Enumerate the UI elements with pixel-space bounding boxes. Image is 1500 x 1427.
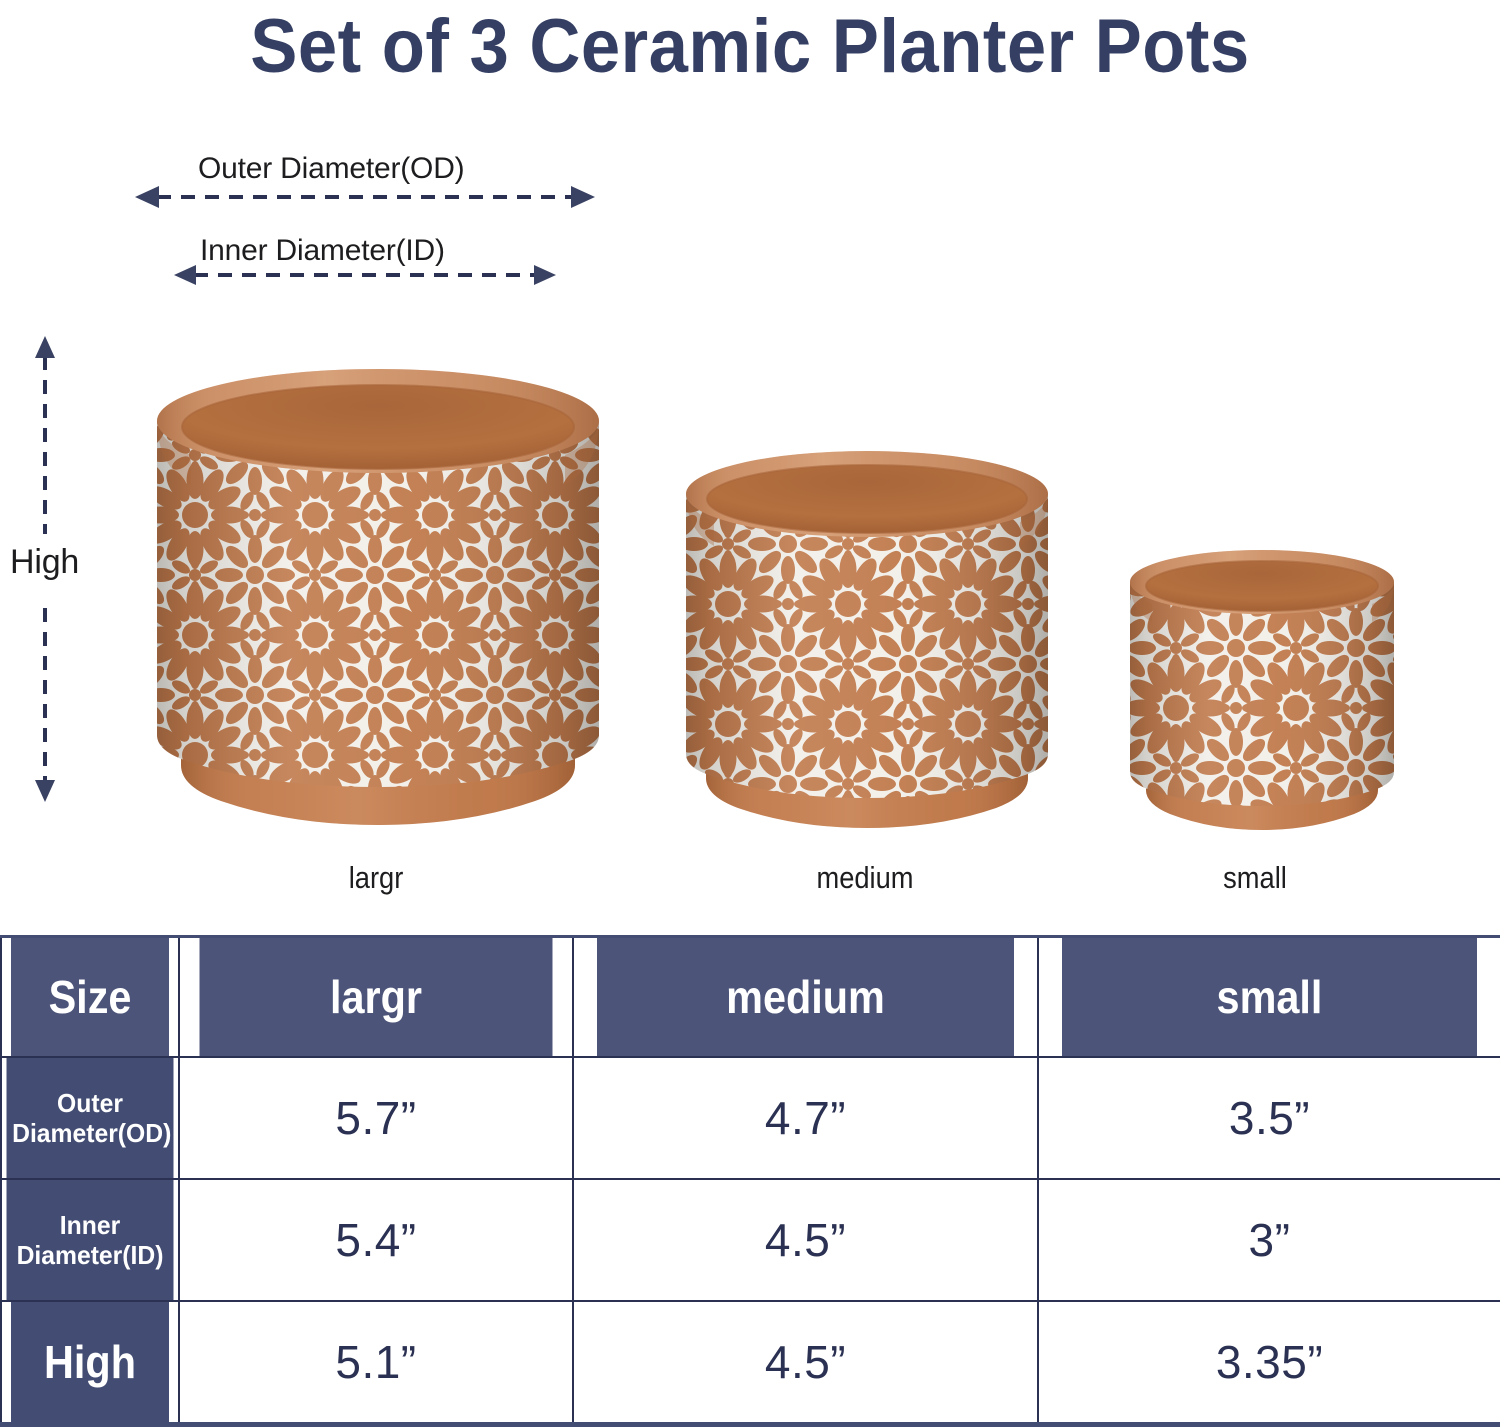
inner-diameter-arrow-icon [174,264,556,286]
cell-high-large: 5.1” [179,1301,573,1425]
cell-od-large: 5.7” [179,1057,573,1179]
cell-id-large: 5.4” [179,1179,573,1301]
cell-id-medium: 4.5” [573,1179,1038,1301]
pot-medium [668,424,1066,836]
row-label-outer-diameter: Outer Diameter(OD) [5,1057,174,1179]
pot-large-graphic [135,335,621,835]
table-row-high: High 5.1” 4.5” 3.35” [1,1301,1500,1425]
table-header-size: Size [10,937,170,1058]
cell-high-medium: 4.5” [573,1301,1038,1425]
inner-diameter-label: Inner Diameter(ID) [200,234,445,268]
outer-diameter-arrow-icon [135,186,595,208]
cell-od-small: 3.5” [1038,1057,1500,1179]
pot-caption-medium: medium [698,860,1032,896]
cell-high-small: 3.35” [1038,1301,1500,1425]
size-spec-table: Size largr medium small Outer Diameter(O… [0,935,1500,1427]
pot-small-graphic [1116,528,1408,838]
table-header-small: small [1061,937,1478,1058]
table-row-outer-diameter: Outer Diameter(OD) 5.7” 4.7” 3.5” [1,1057,1500,1179]
high-label: High [10,543,79,581]
pot-medium-graphic [668,424,1066,836]
pot-caption-large: largr [209,860,543,896]
cell-od-medium: 4.7” [573,1057,1038,1179]
table-header-large: largr [199,937,554,1058]
row-label-line2: Diameter(OD) [12,1118,171,1148]
table-header-medium: medium [596,937,1015,1058]
row-label-line1: Outer [57,1088,123,1118]
product-illustration-stage: Outer Diameter(OD) Inner Diameter(ID) Hi… [0,0,1500,930]
table-header-row: Size largr medium small [1,937,1500,1058]
row-label-inner-diameter: Inner Diameter(ID) [5,1179,174,1301]
pot-large [135,335,621,835]
pot-small [1116,528,1408,838]
row-label-line2: Diameter(ID) [17,1240,164,1270]
table-row-inner-diameter: Inner Diameter(ID) 5.4” 4.5” 3” [1,1179,1500,1301]
cell-id-small: 3” [1038,1179,1500,1301]
outer-diameter-label: Outer Diameter(OD) [198,152,464,186]
row-label-high: High [10,1301,170,1425]
row-label-line1: Inner [60,1210,120,1240]
pot-caption-small: small [1088,860,1422,896]
